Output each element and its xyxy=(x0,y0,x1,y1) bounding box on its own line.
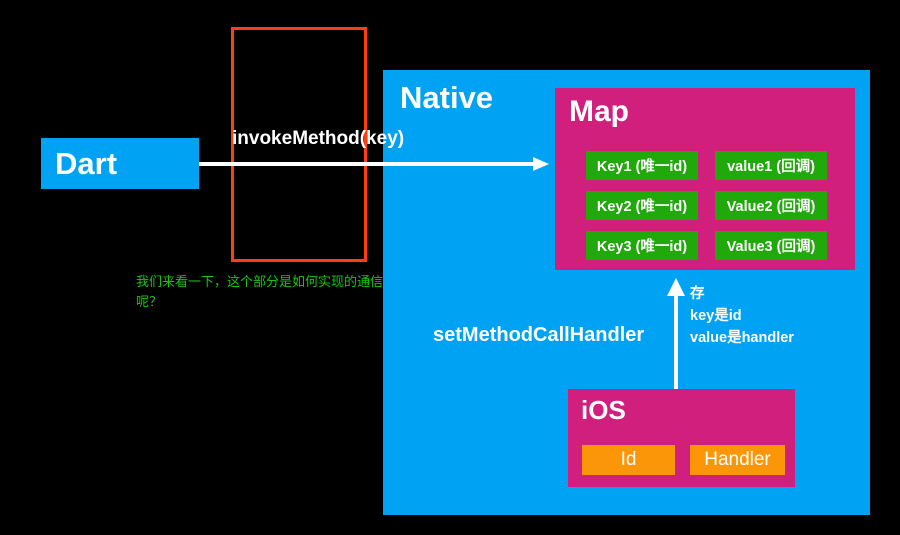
map-key-cell: Key2 (唯一id) xyxy=(586,191,698,220)
store-note-line-2: key是id xyxy=(690,305,794,327)
ios-box: iOS Id Handler xyxy=(568,389,795,487)
map-entry-row: Key3 (唯一id) Value3 (回调) xyxy=(586,231,836,260)
dart-label: Dart xyxy=(41,148,117,179)
ios-cell-list: Id Handler xyxy=(582,445,785,475)
map-label: Map xyxy=(569,95,629,128)
ios-handler-cell: Handler xyxy=(690,445,785,475)
map-key-cell: Key3 (唯一id) xyxy=(586,231,698,260)
ios-id-cell: Id xyxy=(582,445,675,475)
store-note-line-1: 存 xyxy=(690,283,794,305)
map-entry-row: Key2 (唯一id) Value2 (回调) xyxy=(586,191,836,220)
invoke-method-arrow-icon xyxy=(199,157,549,171)
ios-label: iOS xyxy=(581,396,626,425)
diagram-canvas: Dart Native invokeMethod(key) Map Key1 (… xyxy=(0,0,900,535)
map-entry-row: Key1 (唯一id) value1 (回调) xyxy=(586,151,836,180)
annotation-text: 我们来看一下，这个部分是如何实现的通信呢？ xyxy=(136,272,386,312)
native-label: Native xyxy=(400,81,493,115)
dart-box: Dart xyxy=(41,138,199,189)
store-note-line-3: value是handler xyxy=(690,327,794,349)
set-method-call-handler-label: setMethodCallHandler xyxy=(433,324,644,347)
map-value-cell: value1 (回调) xyxy=(715,151,827,180)
store-note-label: 存 key是id value是handler xyxy=(690,283,794,349)
map-box: Map Key1 (唯一id) value1 (回调) Key2 (唯一id) … xyxy=(555,88,855,270)
map-entry-list: Key1 (唯一id) value1 (回调) Key2 (唯一id) Valu… xyxy=(586,151,836,271)
store-arrow-up-icon xyxy=(667,278,685,390)
invoke-method-label: invokeMethod(key) xyxy=(232,128,404,150)
map-value-cell: Value2 (回调) xyxy=(715,191,827,220)
map-key-cell: Key1 (唯一id) xyxy=(586,151,698,180)
map-value-cell: Value3 (回调) xyxy=(715,231,827,260)
